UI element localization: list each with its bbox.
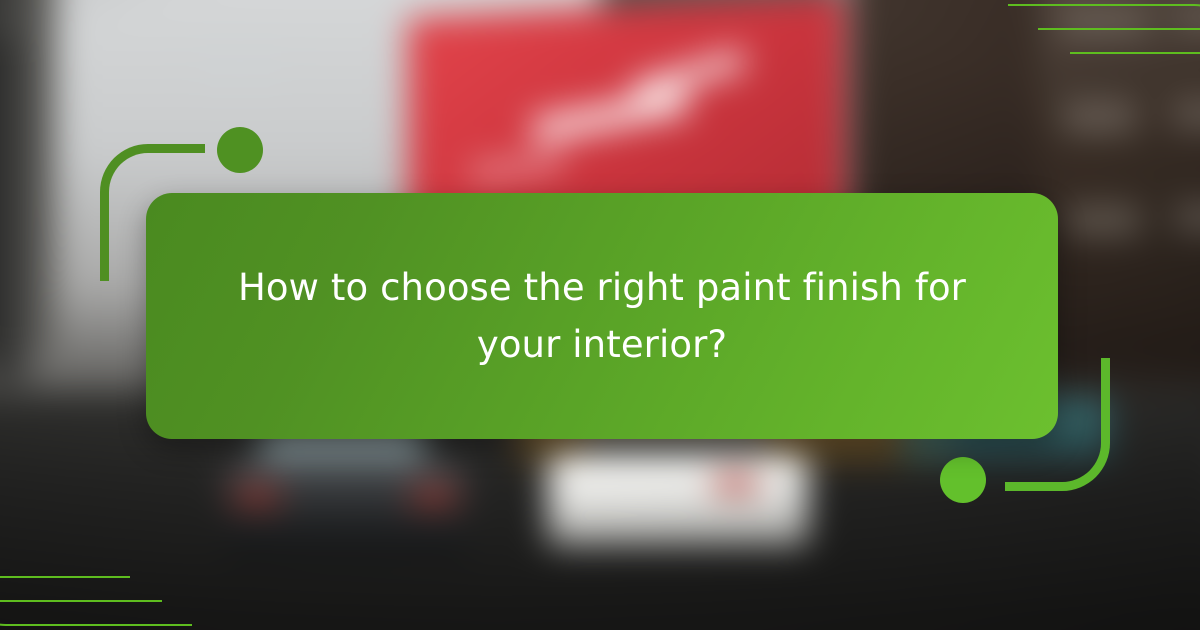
- social-card-canvas: How to choose the right paint finish for…: [0, 0, 1200, 630]
- dot-top-left: [217, 127, 263, 173]
- title-card: How to choose the right paint finish for…: [146, 193, 1058, 439]
- dot-bottom-right: [940, 457, 986, 503]
- page-title: How to choose the right paint finish for…: [210, 259, 994, 373]
